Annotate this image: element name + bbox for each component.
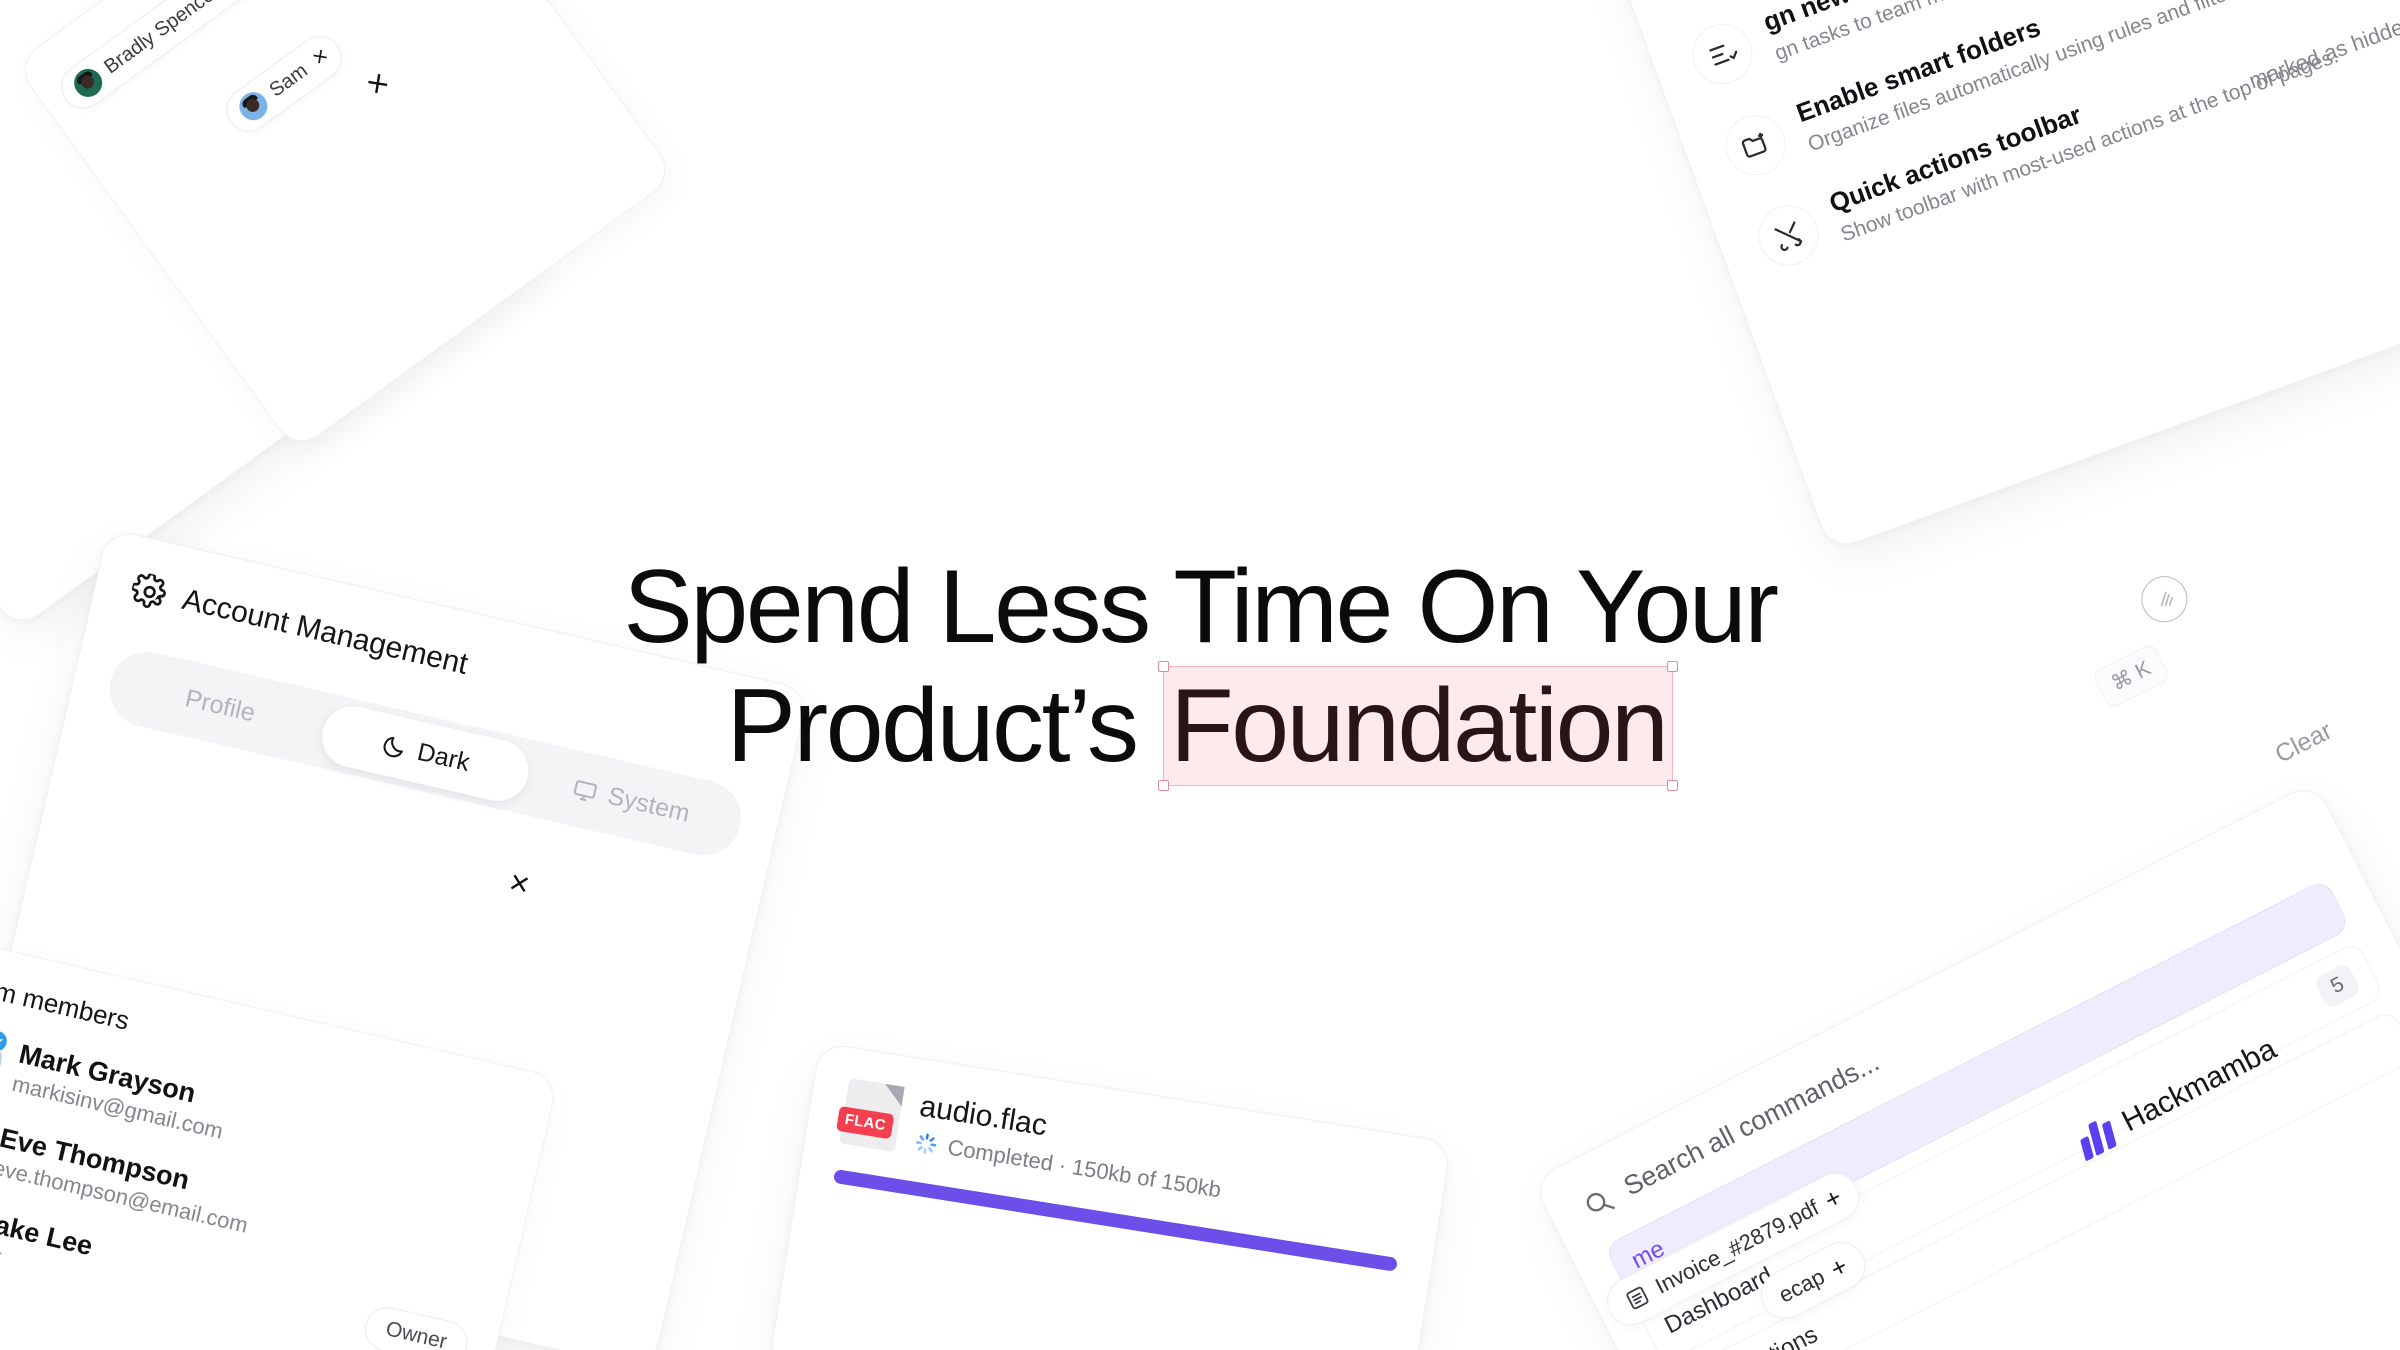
hackmamba-logo-icon xyxy=(2073,1116,2119,1160)
monitor-icon xyxy=(569,775,600,806)
selection-handle-top-right[interactable] xyxy=(1667,661,1678,672)
status-dot xyxy=(0,1068,1,1097)
loading-spinner-icon xyxy=(912,1130,939,1157)
selection-handle-top-left[interactable] xyxy=(1158,661,1169,672)
add-file-icon[interactable]: + xyxy=(1826,1252,1851,1282)
recipient-name: Sam xyxy=(265,59,312,102)
brand-name: Hackmamba xyxy=(2117,1032,2282,1139)
selection-handle-bottom-left[interactable] xyxy=(1158,780,1169,791)
search-icon xyxy=(1578,1182,1618,1222)
file-upload-card: FLAC audio.flac Completed · 150kb of 150… xyxy=(768,1042,1452,1350)
gear-icon[interactable] xyxy=(128,570,171,613)
recipient-chip[interactable]: Sam × xyxy=(218,27,351,140)
avatar xyxy=(234,87,273,126)
remove-recipient-icon[interactable]: × xyxy=(308,44,333,72)
contrast-icon[interactable] xyxy=(2133,568,2195,630)
recipient-name: Bradly Spencer xyxy=(100,0,224,79)
theme-option-label: Dark xyxy=(414,738,472,778)
headline-selected-text: Foundation xyxy=(1170,668,1666,784)
moon-icon xyxy=(379,731,410,762)
theme-option-system[interactable]: System xyxy=(521,748,740,855)
verified-badge-icon xyxy=(0,1027,11,1056)
page-title: Account Management xyxy=(179,583,471,682)
tools-icon xyxy=(1750,197,1827,274)
theme-option-label: System xyxy=(605,782,693,829)
clear-button[interactable]: Clear xyxy=(2271,717,2337,770)
theme-option-profile[interactable]: Profile xyxy=(111,653,330,760)
canvas: th access splay on profile sabled commen… xyxy=(0,0,2400,1350)
folder-plus-icon xyxy=(1717,106,1794,183)
selection-handle-bottom-right[interactable] xyxy=(1667,780,1678,791)
avatar xyxy=(0,1018,8,1095)
headline-selected-word[interactable]: Foundation xyxy=(1163,666,1673,786)
add-file-icon[interactable]: + xyxy=(1820,1183,1845,1213)
close-icon[interactable]: × xyxy=(360,64,396,103)
theme-option-dark[interactable]: Dark xyxy=(316,700,535,807)
flac-file-icon: FLAC xyxy=(839,1078,905,1152)
document-icon xyxy=(1621,1282,1653,1314)
avatar xyxy=(69,63,108,102)
theme-selector[interactable]: Profile Dark System xyxy=(102,644,748,862)
status-badge: Owner xyxy=(361,1303,472,1350)
file-chip-label: ecap xyxy=(1775,1264,1829,1309)
close-icon[interactable]: × xyxy=(506,865,533,903)
keyboard-shortcut-badge: ⌘ K xyxy=(2091,642,2171,710)
theme-option-label: Profile xyxy=(182,684,258,728)
